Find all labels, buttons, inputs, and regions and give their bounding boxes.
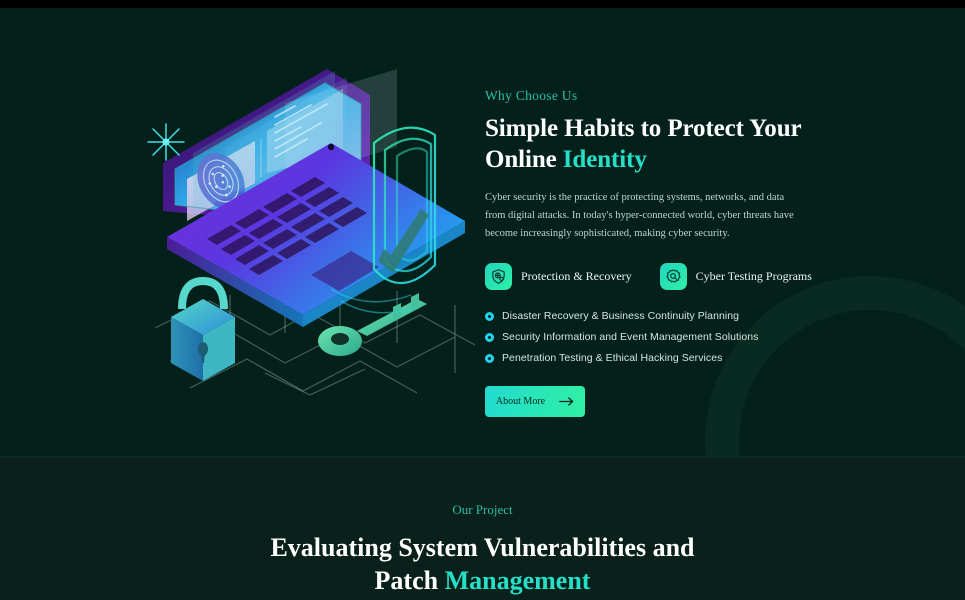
lower-heading-accent: Management: [445, 566, 591, 595]
lower-eyebrow: Our Project: [0, 502, 965, 518]
shield-gear-icon: [485, 263, 512, 290]
hero-section: Why Choose Us Simple Habits to Protect Y…: [0, 8, 965, 456]
feature-label: Cyber Testing Programs: [696, 269, 812, 284]
list-item: Disaster Recovery & Business Continuity …: [485, 310, 815, 322]
feature-badges: Protection & Recovery Cyber Testing Prog…: [485, 263, 815, 290]
list-item-label: Penetration Testing & Ethical Hacking Se…: [502, 352, 722, 364]
hero-paragraph: Cyber security is the practice of protec…: [485, 189, 803, 243]
hero-eyebrow: Why Choose Us: [485, 88, 815, 104]
lower-heading-line-1: Evaluating System Vulnerabilities and: [270, 533, 694, 562]
about-more-button[interactable]: About More: [485, 386, 585, 417]
badge-seal-icon: [660, 263, 687, 290]
hero-content: Why Choose Us Simple Habits to Protect Y…: [485, 88, 815, 417]
headline-line-2-plain: Online: [485, 146, 563, 173]
list-item: Penetration Testing & Ethical Hacking Se…: [485, 352, 815, 364]
feature-cyber-testing[interactable]: Cyber Testing Programs: [660, 263, 812, 290]
list-item: Security Information and Event Managemen…: [485, 331, 815, 343]
bullet-icon: [485, 354, 494, 363]
feature-label: Protection & Recovery: [521, 269, 632, 284]
our-project-section: Our Project Evaluating System Vulnerabil…: [0, 458, 965, 600]
padlock: [171, 281, 235, 381]
benefits-checklist: Disaster Recovery & Business Continuity …: [485, 310, 815, 364]
headline-line-1: Simple Habits to Protect Your: [485, 115, 802, 142]
isometric-laptop-security-illustration: [135, 43, 485, 408]
headline-accent: Identity: [563, 146, 647, 173]
about-more-label: About More: [496, 396, 545, 407]
list-item-label: Security Information and Event Managemen…: [502, 331, 758, 343]
lower-heading-line-2-plain: Patch: [375, 566, 445, 595]
page-title: Simple Habits to Protect Your Online Ide…: [485, 114, 815, 175]
top-bar: [0, 0, 965, 8]
sparkle-icon: [148, 124, 184, 160]
bullet-icon: [485, 312, 494, 321]
list-item-label: Disaster Recovery & Business Continuity …: [502, 310, 739, 322]
landing-page: Why Choose Us Simple Habits to Protect Y…: [0, 0, 965, 600]
feature-protection-recovery[interactable]: Protection & Recovery: [485, 263, 632, 290]
bullet-icon: [485, 333, 494, 342]
lower-heading: Evaluating System Vulnerabilities and Pa…: [0, 531, 965, 598]
arrow-right-icon: [559, 394, 574, 409]
